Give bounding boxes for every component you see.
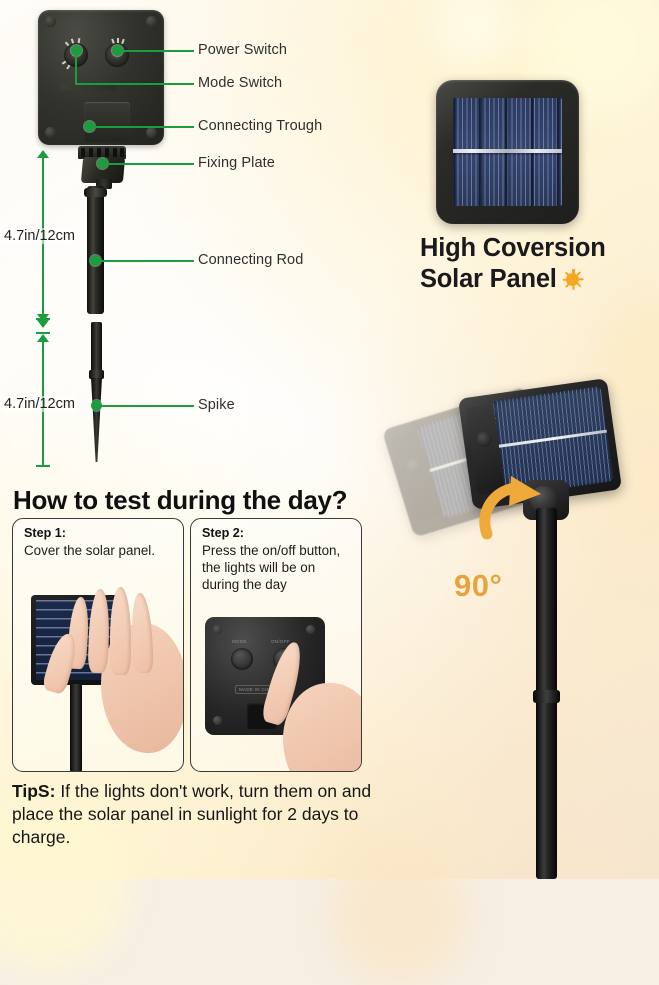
screw-icon (146, 127, 157, 138)
tips-block: TipS: If the lights don't work, turn the… (12, 780, 392, 848)
exploded-diagram: Power Switch Mode Switch Connecting Trou… (0, 0, 400, 480)
step-2-photo: MODE ON/OFF MADE IN CHINA (191, 607, 361, 771)
curved-rotation-arrow-icon (473, 474, 545, 546)
screw-icon (45, 16, 56, 27)
hand-finger (110, 587, 131, 675)
howto-heading: How to test during the day? (13, 485, 347, 516)
tilt-dial-icon (476, 431, 493, 448)
hero-caption-line1: High Coversion (420, 234, 606, 262)
callout-label-connecting-trough: Connecting Trough (198, 118, 322, 134)
mounting-pole (536, 508, 557, 879)
dimension-label-spike-length: 4.7in/12cm (3, 396, 76, 412)
screw-icon (45, 127, 56, 138)
sun-icon (562, 269, 583, 290)
cell-busbar (453, 149, 562, 153)
hero-caption: High Coversion Solar Panel (420, 233, 652, 295)
mode-button[interactable] (231, 648, 253, 670)
callout-label-mode-switch: Mode Switch (198, 75, 282, 91)
rotation-demo: 90° (395, 382, 659, 879)
lamp-housing-rear (38, 10, 164, 145)
dimension-arrow-down-icon (37, 320, 49, 328)
dimension-label-rod-length: 4.7in/12cm (3, 228, 76, 244)
step-1-title: Step 1: (24, 526, 66, 540)
callout-label-fixing-plate: Fixing Plate (198, 155, 275, 171)
onoff-knob-caption: ON/OFF (271, 639, 290, 644)
step-card-2: Step 2: Press the on/off button, the lig… (190, 518, 362, 772)
callout-line-connecting-rod (96, 260, 194, 262)
callout-line-spike (97, 405, 194, 407)
screw-icon (146, 16, 157, 27)
screw-icon (213, 625, 222, 634)
spike-part (90, 322, 103, 462)
step-1-text: Cover the solar panel. (24, 543, 176, 560)
mode-knob-caption: MODE (232, 639, 247, 644)
callout-line-mode-switch (75, 83, 194, 85)
callout-label-connecting-rod: Connecting Rod (198, 252, 303, 268)
callout-line-fixing-plate (103, 163, 194, 165)
screw-icon (213, 716, 222, 725)
tips-text: If the lights don't work, turn them on a… (12, 781, 371, 847)
hero-caption-line2: Solar Panel (420, 265, 557, 293)
callout-line-power-switch (118, 50, 194, 52)
callout-label-power-switch: Power Switch (198, 42, 287, 58)
step-1-photo (13, 581, 183, 771)
solar-cell-array (453, 98, 562, 206)
tips-label: TipS: (12, 781, 55, 801)
step-2-text: Press the on/off button, the lights will… (202, 543, 354, 594)
spike-point (91, 378, 102, 462)
callout-line-mode-switch-vert (75, 50, 77, 85)
step-card-1: Step 1: Cover the solar panel. (12, 518, 184, 772)
dimension-cap (36, 465, 50, 467)
solar-panel-closeup (436, 80, 579, 224)
hand-finger (130, 593, 154, 674)
callout-line-connecting-trough (90, 126, 194, 128)
callout-label-spike: Spike (198, 397, 235, 413)
spike-collar (89, 370, 104, 379)
connecting-rod-part (87, 186, 104, 314)
step-2-title: Step 2: (202, 526, 244, 540)
spike-shaft (91, 322, 102, 374)
pole-small (70, 684, 82, 771)
screw-icon (306, 625, 315, 634)
rotation-angle-label: 90° (454, 568, 502, 604)
